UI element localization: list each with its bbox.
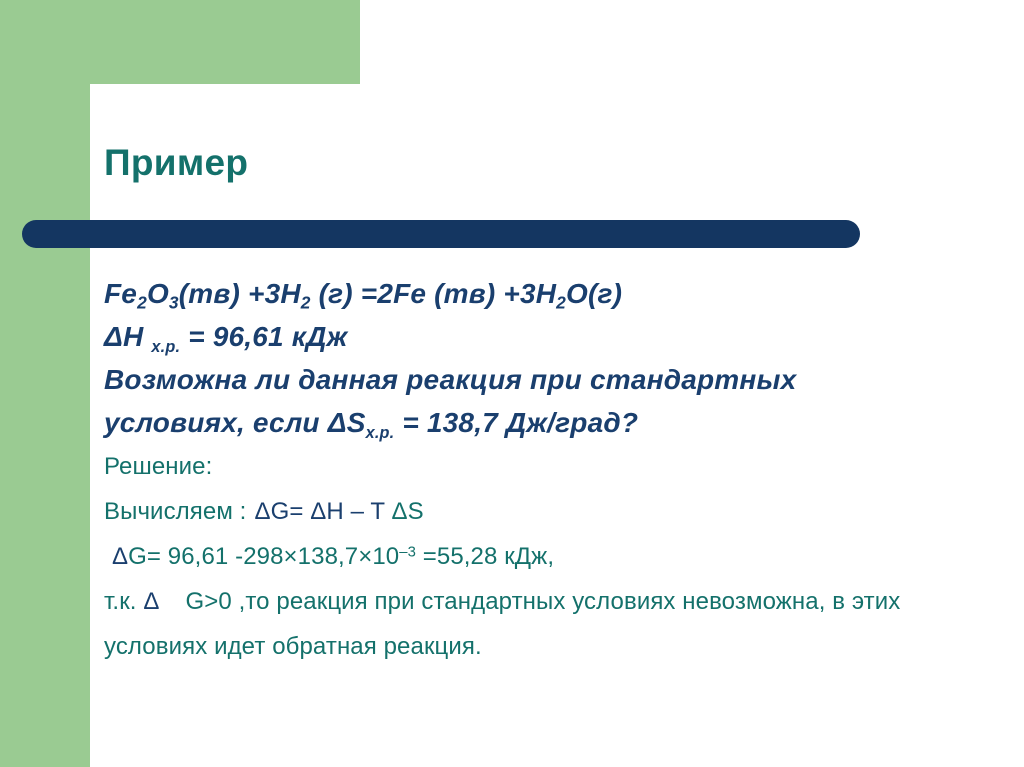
solution-numeric-line: ΔG= 96,61 -298×138,7×10–3 =55,28 кДж, [104,534,984,579]
solution-conclusion: т.к. ΔG>0 ,то реакция при стандартных ус… [104,579,944,669]
decor-green-left-bar [0,84,90,767]
reaction-equation-line: Fe2O3(тв) +3H2 (г) =2Fe (тв) +3H2O(г) [104,272,984,315]
question-text-part2: = 138,7 Дж/град? [394,407,638,438]
numeric-result: =55,28 кДж, [416,543,554,570]
enthalpy-symbol: ΔH [104,321,143,352]
numeric-expression: G= 96,61 -298×138,7×10 [128,543,399,570]
solution-formula-teal: ΔS [391,498,423,525]
slide-canvas: Пример Fe2O3(тв) +3H2 (г) =2Fe (тв) +3H2… [0,0,1024,767]
slide-body: Fe2O3(тв) +3H2 (г) =2Fe (тв) +3H2O(г) ΔH… [104,272,984,669]
question-line: Возможна ли данная реакция при стандартн… [104,358,904,444]
reaction-sub-2: 2 [137,293,147,313]
numeric-exponent: –3 [399,544,416,560]
reaction-sub-3: 3 [169,293,179,313]
numeric-delta-symbol: Δ [112,543,128,570]
reaction-fe: Fe [104,278,137,309]
solution-formula-label: Вычисляем : [104,498,246,525]
enthalpy-line: ΔHх.р.= 96,61 кДж [104,315,984,358]
reaction-sub-2b: 2 [301,293,311,313]
reaction-solid-state-1: (тв) +3 [179,278,281,309]
enthalpy-value: = 96,61 кДж [188,321,347,352]
solution-formula-navy: ΔG= ΔH – T [254,498,391,525]
enthalpy-subscript: х.р. [151,338,180,356]
solution-heading: Решение: [104,444,984,489]
reaction-sub-2c: 2 [556,293,566,313]
title-divider-bar [22,220,860,248]
solution-formula-line: Вычисляем :ΔG= ΔH – T ΔS [104,489,984,534]
reaction-gas-state-1: (г) =2Fe (тв) +3 [311,278,536,309]
entropy-subscript: х.р. [366,424,395,442]
reaction-h2: H [536,278,556,309]
reaction-o2-gas: O(г) [566,278,622,309]
reaction-o: O [147,278,169,309]
conclusion-delta-symbol: Δ [143,588,159,615]
page-title: Пример [104,142,248,184]
conclusion-prefix: т.к. [104,588,143,615]
reaction-h: H [280,278,300,309]
conclusion-text: G>0 ,то реакция при стандартных условиях… [104,588,900,660]
decor-green-top-block [0,0,360,84]
